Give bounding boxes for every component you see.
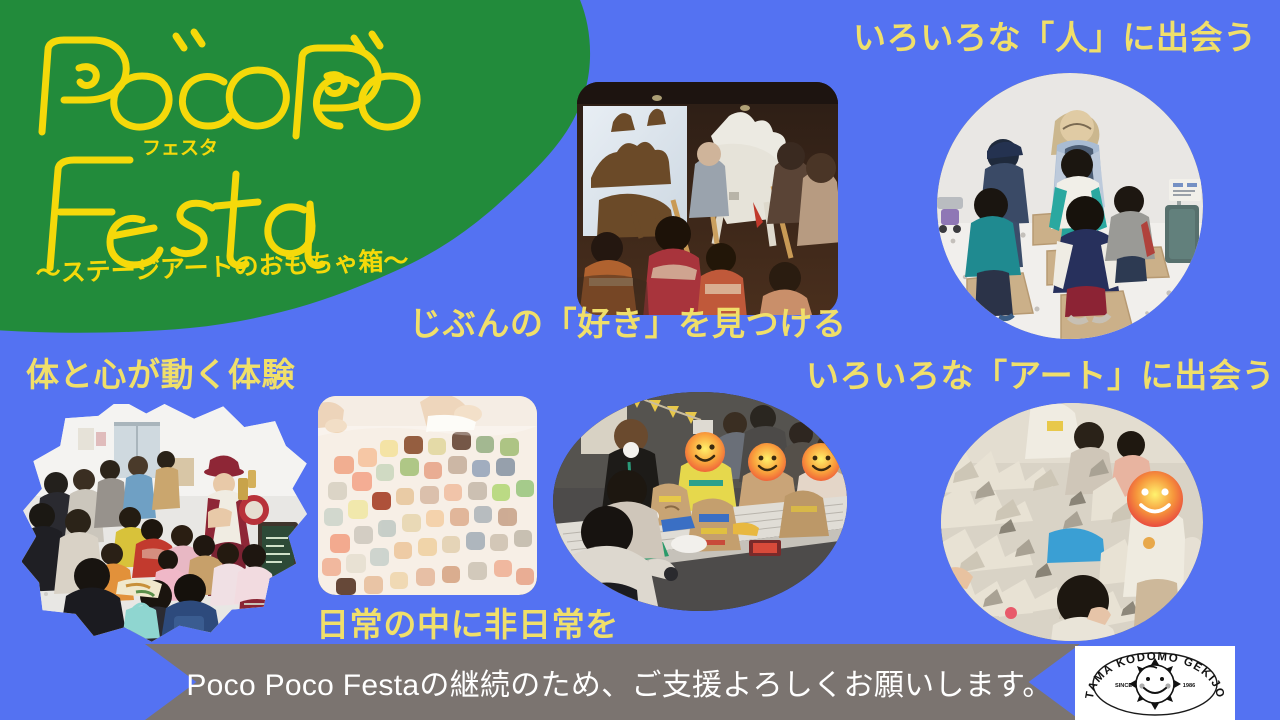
caption-body-and-mind: 体と心が動く体験: [26, 358, 295, 391]
support-banner-text: Poco Poco Festaの継続のため、ご支援よろしくお願いします。: [145, 644, 1080, 720]
photo-shadow-puppet-show: [577, 82, 838, 315]
photo-shadow-puppet-show-art: [577, 82, 838, 315]
photo-performer-and-crowd: [22, 404, 307, 642]
photo-craft-workshop: [553, 392, 847, 611]
organization-logo: TAMA KODOMO GEKIJO SINCE 1986: [1075, 646, 1235, 720]
photo-shredded-paper-play: [941, 403, 1203, 641]
organization-logo-since-year: 1986: [1183, 683, 1195, 689]
photo-shredded-paper-play-art: [941, 403, 1203, 641]
photo-children-on-boards: [937, 73, 1203, 339]
photo-craft-workshop-art: [553, 392, 847, 611]
caption-extraordinary-in-daily: 日常の中に非日常を: [316, 608, 619, 641]
logo-tagline: 〜ステージアートのおもちゃ箱〜: [35, 246, 409, 288]
organization-logo-since-label: SINCE: [1115, 683, 1132, 689]
caption-meet-art: いろいろな「アート」に出会う: [806, 359, 1275, 392]
caption-meet-people: いろいろな「人」に出会う: [853, 21, 1257, 54]
caption-find-your-like: じぶんの「好き」を見つける: [409, 307, 847, 340]
photo-performer-and-crowd-art: [22, 404, 307, 642]
organization-logo-art: TAMA KODOMO GEKIJO SINCE 1986: [1075, 646, 1235, 720]
poster-canvas: フェスタ 〜ステージアートのおもちゃ箱〜: [0, 0, 1280, 720]
photo-colorful-blocks: [318, 396, 537, 595]
support-banner: Poco Poco Festaの継続のため、ご支援よろしくお願いします。: [145, 644, 1080, 720]
event-logo: フェスタ 〜ステージアートのおもちゃ箱〜: [24, 14, 474, 294]
photo-children-on-boards-art: [937, 73, 1203, 339]
logo-ruby: フェスタ: [142, 137, 218, 159]
event-logo-art: フェスタ 〜ステージアートのおもちゃ箱〜: [24, 14, 474, 294]
photo-colorful-blocks-art: [318, 396, 537, 595]
